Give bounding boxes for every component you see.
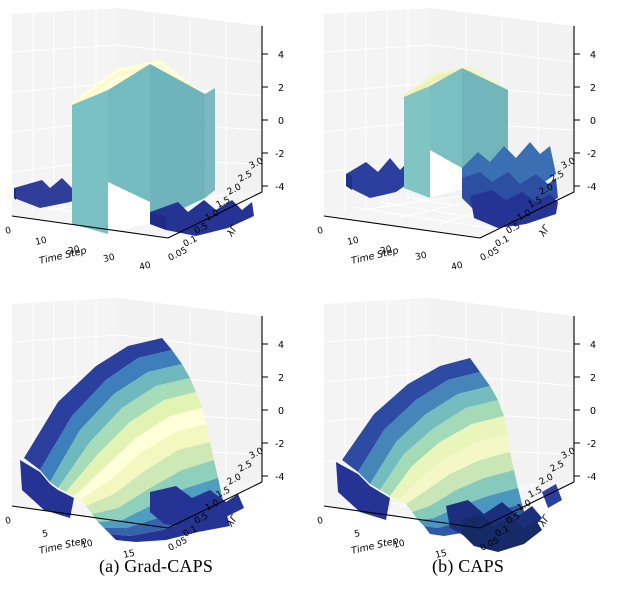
caption-a: (a) Grad-CAPS [0,556,312,577]
y-axis-label: λΓ [537,223,553,240]
z-tick-2: 0 [590,116,596,127]
z-tick-3: -2 [275,149,284,160]
x-tick-1: 10 [346,236,360,248]
x-tick-3: 30 [102,253,116,265]
caption-b: (b) CAPS [312,556,624,577]
chart-panel-top-left: 4 2 0 -2 -4 0 10 20 30 40 Time Step 0.05… [0,2,312,274]
z-tick-1: 2 [278,83,284,94]
z-axis: 4 2 0 -2 -4 [262,340,284,483]
z-tick-1: 2 [590,83,596,94]
surface-plot-bottom-right: 4 2 0 -2 -4 0 5 10 15 Time Step 0.05 0.1… [312,292,624,564]
x-axis-label: Time Step [38,245,87,267]
figure-container: 4 2 0 -2 -4 0 10 20 30 40 Time Step 0.05… [0,0,624,590]
z-tick-3: -2 [587,439,596,450]
surface-plot-top-right: 4 2 0 -2 -4 0 10 20 30 40 Time Step 0.05… [312,2,624,274]
z-axis: 4 2 0 -2 -4 [574,50,596,193]
z-tick-0: 4 [590,340,596,351]
x-tick-1: 5 [353,529,361,540]
z-tick-3: -2 [587,149,596,160]
x-tick-3: 30 [414,251,428,263]
z-tick-4: -4 [587,182,596,193]
x-tick-0: 0 [316,516,324,527]
z-tick-0: 4 [278,340,284,351]
surface-plot-top-left: 4 2 0 -2 -4 0 10 20 30 40 Time Step 0.05… [0,2,312,274]
x-tick-4: 40 [450,261,464,273]
z-tick-3: -2 [275,439,284,450]
z-tick-2: 0 [590,406,596,417]
z-tick-0: 4 [590,50,596,61]
x-tick-0: 0 [4,226,12,237]
z-tick-1: 2 [278,373,284,384]
chart-panel-bottom-left: 4 2 0 -2 -4 0 5 10 15 Time Step 0.05 0.1… [0,292,312,564]
z-tick-4: -4 [587,472,596,483]
z-tick-4: -4 [275,472,284,483]
x-tick-4: 40 [138,261,152,273]
z-tick-1: 2 [590,373,596,384]
x-tick-1: 10 [34,236,48,248]
z-tick-2: 0 [278,406,284,417]
x-tick-0: 0 [4,516,12,527]
z-tick-4: -4 [275,182,284,193]
x-tick-1: 5 [41,529,49,540]
z-axis: 4 2 0 -2 -4 [262,50,284,193]
surface-plot-bottom-left: 4 2 0 -2 -4 0 5 10 15 Time Step 0.05 0.1… [0,292,312,564]
x-axis-label: Time Step [350,245,399,267]
z-tick-2: 0 [278,116,284,127]
chart-panel-bottom-right: 4 2 0 -2 -4 0 5 10 15 Time Step 0.05 0.1… [312,292,624,564]
z-tick-0: 4 [278,50,284,61]
chart-panel-top-right: 4 2 0 -2 -4 0 10 20 30 40 Time Step 0.05… [312,2,624,274]
z-axis: 4 2 0 -2 -4 [574,340,596,483]
x-tick-0: 0 [316,226,324,237]
